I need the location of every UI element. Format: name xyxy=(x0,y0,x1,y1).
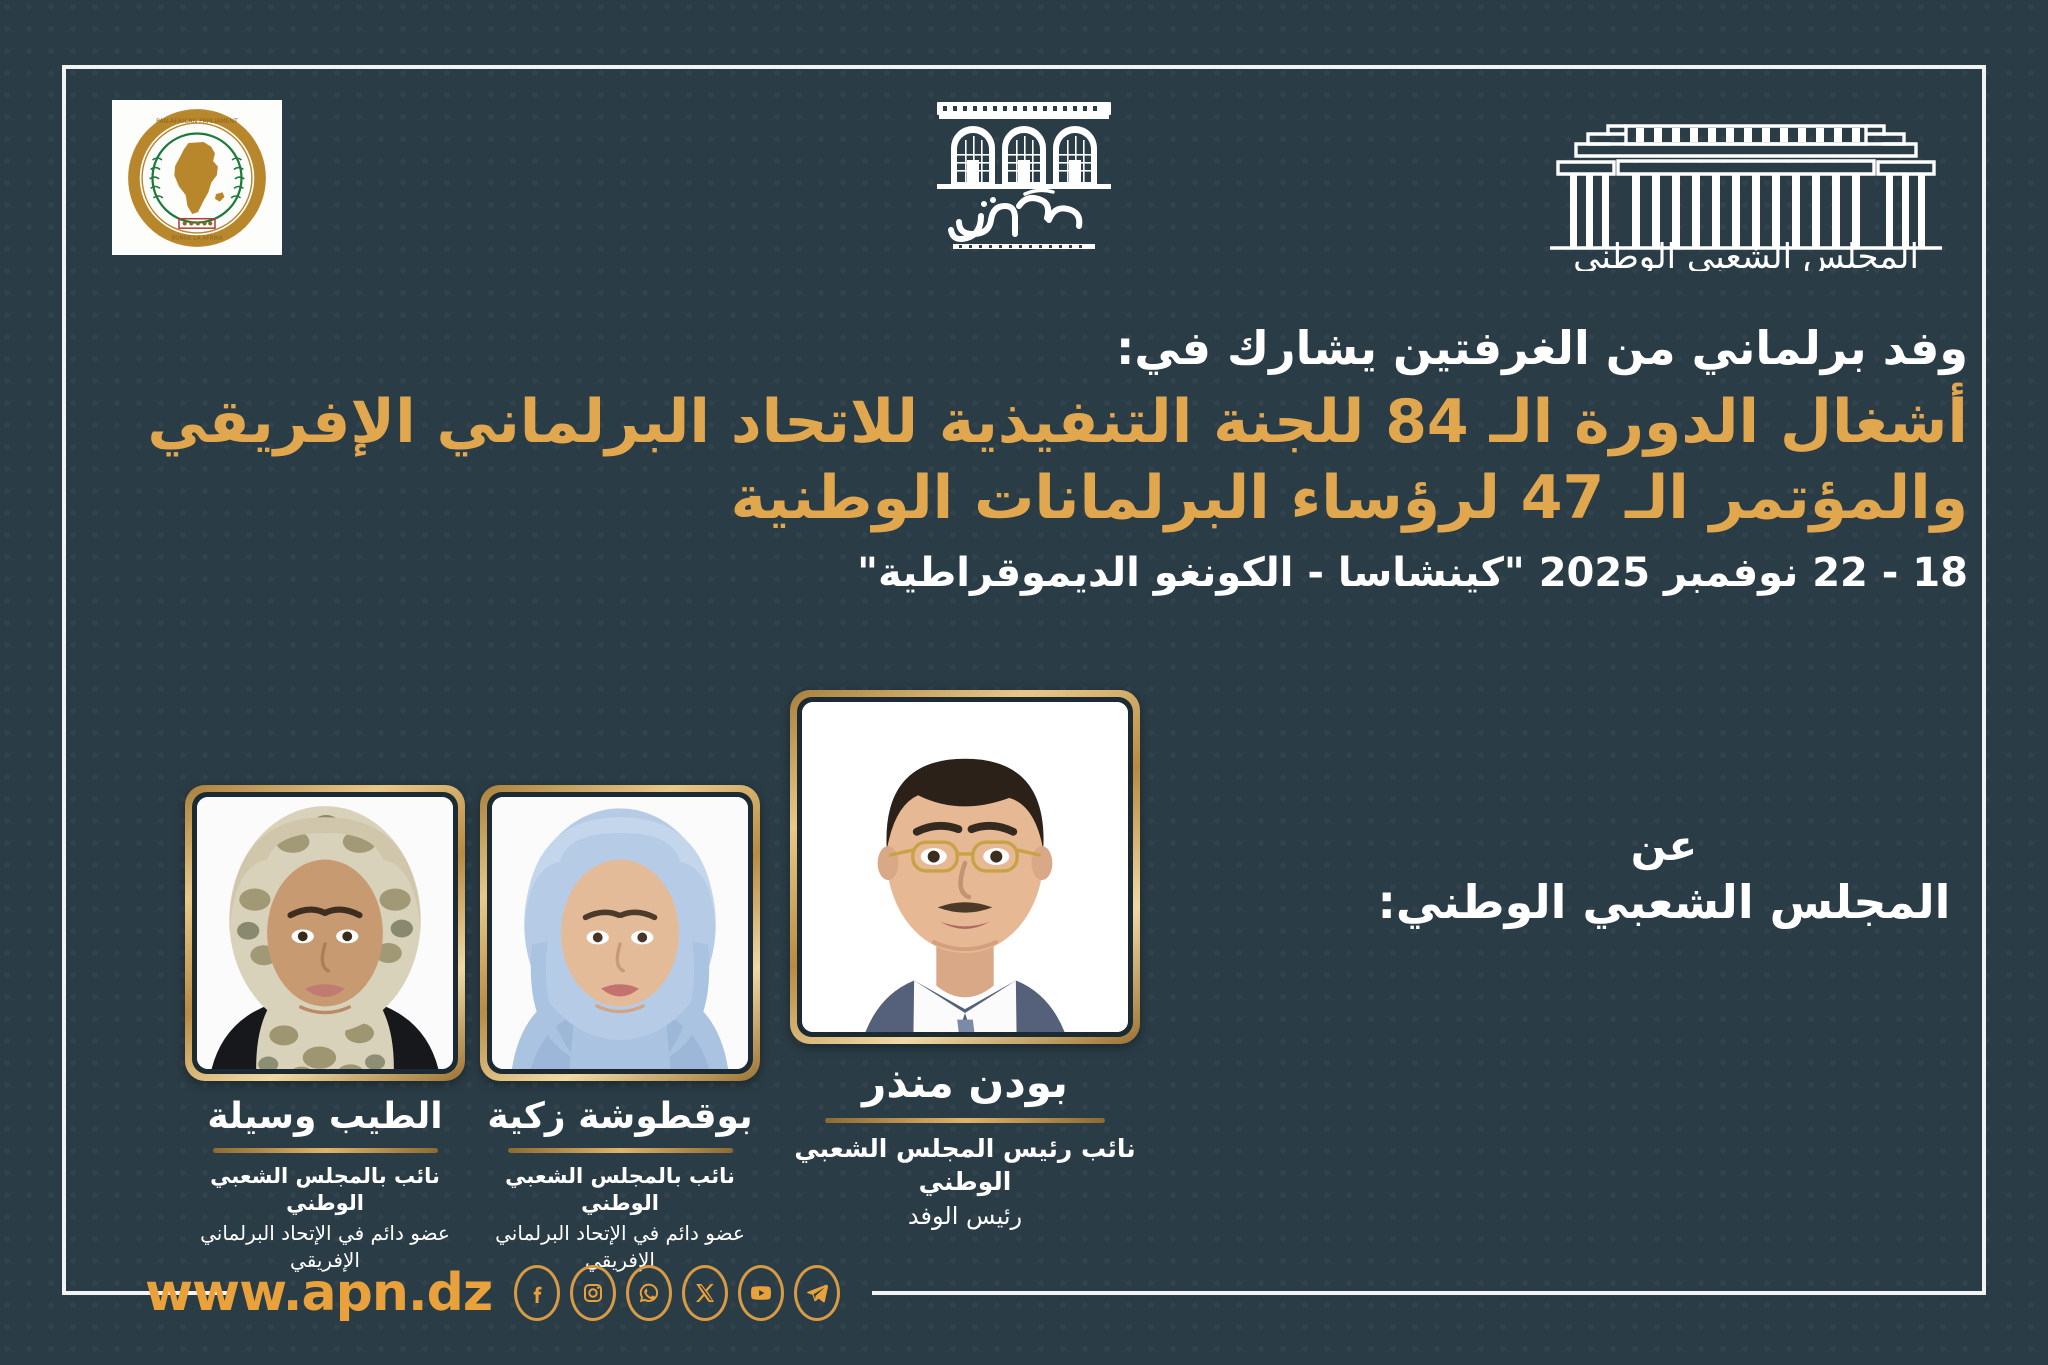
portrait-frame xyxy=(185,785,465,1081)
instagram-icon[interactable] xyxy=(570,1265,616,1321)
telegram-icon[interactable] xyxy=(794,1265,840,1321)
whatsapp-icon[interactable] xyxy=(626,1265,672,1321)
website-link[interactable]: www.apn.dz xyxy=(145,1263,492,1323)
svg-text:BUNGE LA AFRIKA: BUNGE LA AFRIKA xyxy=(171,235,222,241)
portrait-photo-ettayeb-wassila xyxy=(197,797,453,1069)
apn-logo-wordmark: المجلس الشعبي الوطني xyxy=(1573,237,1919,271)
member-name: بودن منذر xyxy=(790,1058,1140,1108)
header-logos: PAN-AFRICAN PARLIAMENT BUNGE LA AFRIKA xyxy=(62,70,1986,290)
portrait-inner-border xyxy=(487,792,753,1074)
portrait-illustration-man xyxy=(802,702,1128,1032)
delegation-members: بودن منذر نائب رئيس المجلس الشعبي الوطني… xyxy=(90,690,1270,1270)
svg-text:PAN-AFRICAN PARLIAMENT: PAN-AFRICAN PARLIAMENT xyxy=(156,118,238,125)
pan-african-parliament-logo: PAN-AFRICAN PARLIAMENT BUNGE LA AFRIKA xyxy=(112,100,282,255)
portrait-photo-bouguettoucha-zakia xyxy=(492,797,748,1069)
frame-top-line xyxy=(62,65,1986,69)
pan-african-parliament-icon: PAN-AFRICAN PARLIAMENT BUNGE LA AFRIKA xyxy=(122,107,272,249)
headline-date-place: 18 - 22 نوفمبر 2025 "كينشاسا - الكونغو ا… xyxy=(88,547,1968,599)
headline-title-line2: والمؤتمر الـ 47 لرؤساء البرلمانات الوطني… xyxy=(88,460,1968,537)
frame-bottom-right-line xyxy=(872,1291,1986,1295)
poster-canvas: PAN-AFRICAN PARLIAMENT BUNGE LA AFRIKA xyxy=(0,0,2048,1365)
delegation-source-line1: عن xyxy=(1364,820,1964,873)
portrait-frame xyxy=(480,785,760,1081)
member-role-primary: نائب بالمجلس الشعبي الوطني xyxy=(480,1163,760,1218)
portrait-inner-border xyxy=(797,697,1133,1037)
portrait-frame xyxy=(790,690,1140,1044)
member-name: الطيب وسيلة xyxy=(185,1095,465,1138)
portrait-illustration-woman-patterned xyxy=(197,797,453,1069)
delegation-source-line2: المجلس الشعبي الوطني: xyxy=(1364,873,1964,933)
headline-title-line1: أشغال الدورة الـ 84 للجنة التنفيذية للات… xyxy=(88,384,1968,461)
senate-building-icon xyxy=(929,94,1119,254)
national-peoples-assembly-logo: المجلس الشعبي الوطني xyxy=(1536,96,1956,275)
portrait-illustration-woman-blue xyxy=(492,797,748,1069)
member-divider xyxy=(213,1148,438,1153)
footer-bar: www.apn.dz xyxy=(145,1258,840,1328)
headline-block: وفد برلماني من الغرفتين يشارك في: أشغال … xyxy=(88,320,1968,599)
youtube-icon[interactable] xyxy=(738,1265,784,1321)
portrait-inner-border xyxy=(192,792,458,1074)
member-role-primary: نائب بالمجلس الشعبي الوطني xyxy=(185,1163,465,1218)
social-links xyxy=(514,1265,840,1321)
member-card-head-of-delegation: بودن منذر نائب رئيس المجلس الشعبي الوطني… xyxy=(790,690,1140,1233)
facebook-icon[interactable] xyxy=(514,1265,560,1321)
portrait-photo-boudene-mondher xyxy=(802,702,1128,1032)
member-card-ettayeb: الطيب وسيلة نائب بالمجلس الشعبي الوطني ع… xyxy=(185,785,465,1274)
apn-building-icon: المجلس الشعبي الوطني xyxy=(1536,96,1956,271)
headline-intro: وفد برلماني من الغرفتين يشارك في: xyxy=(88,320,1968,378)
member-divider xyxy=(825,1118,1105,1123)
member-role-secondary: رئيس الوفد xyxy=(790,1200,1140,1232)
member-divider xyxy=(508,1148,733,1153)
council-of-the-nation-logo xyxy=(929,94,1119,258)
member-name: بوقطوشة زكية xyxy=(480,1095,760,1138)
x-twitter-icon[interactable] xyxy=(682,1265,728,1321)
member-role-primary: نائب رئيس المجلس الشعبي الوطني xyxy=(790,1133,1140,1198)
delegation-source-label: عن المجلس الشعبي الوطني: xyxy=(1364,820,1964,932)
member-card-bouguettoucha: بوقطوشة زكية نائب بالمجلس الشعبي الوطني … xyxy=(480,785,760,1274)
